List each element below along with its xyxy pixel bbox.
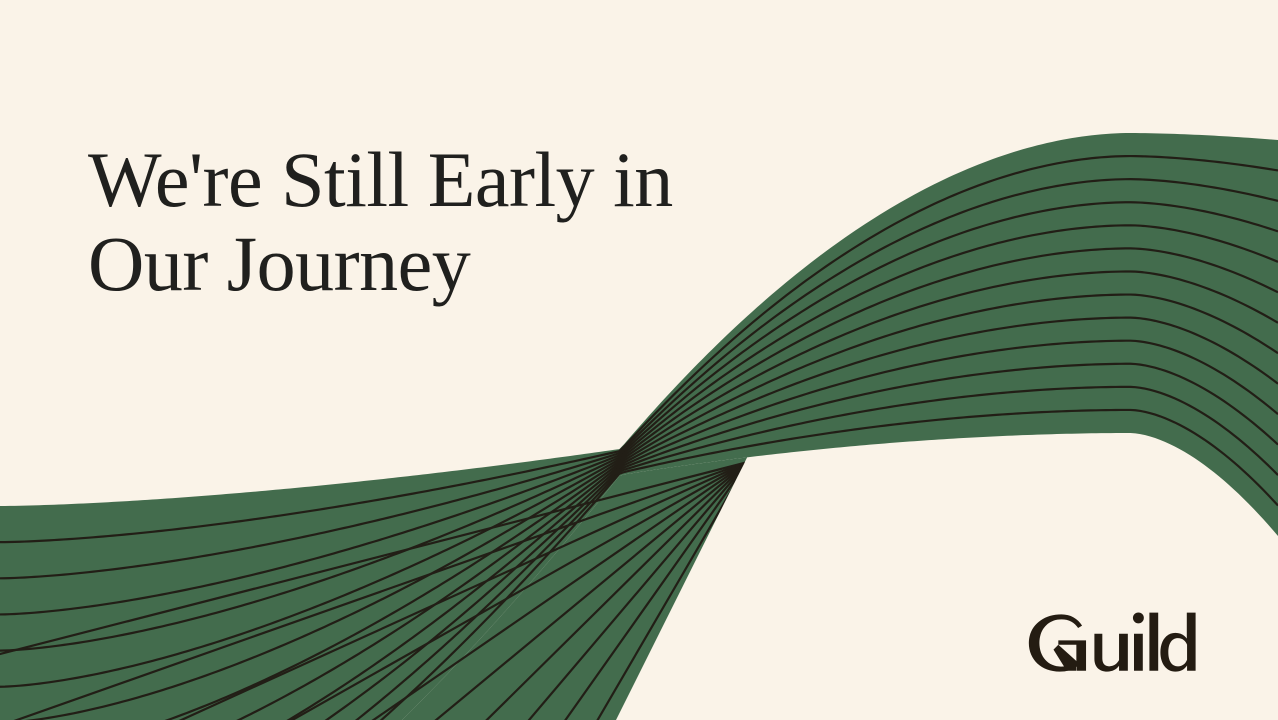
logo-letter-u [1094, 634, 1127, 672]
logo-letter-l [1149, 613, 1158, 671]
slide-canvas: We're Still Early in Our Journey Guild [0, 0, 1278, 720]
logo-letter-i-dot [1133, 612, 1144, 623]
page-title: We're Still Early in Our Journey [88, 138, 908, 306]
guild-wordmark-icon: Guild [1024, 610, 1210, 684]
logo-letter-g [1029, 614, 1086, 671]
guild-logo: Guild [1024, 610, 1210, 684]
logo-letter-d [1160, 613, 1195, 672]
logo-letter-i-stem [1134, 634, 1143, 671]
